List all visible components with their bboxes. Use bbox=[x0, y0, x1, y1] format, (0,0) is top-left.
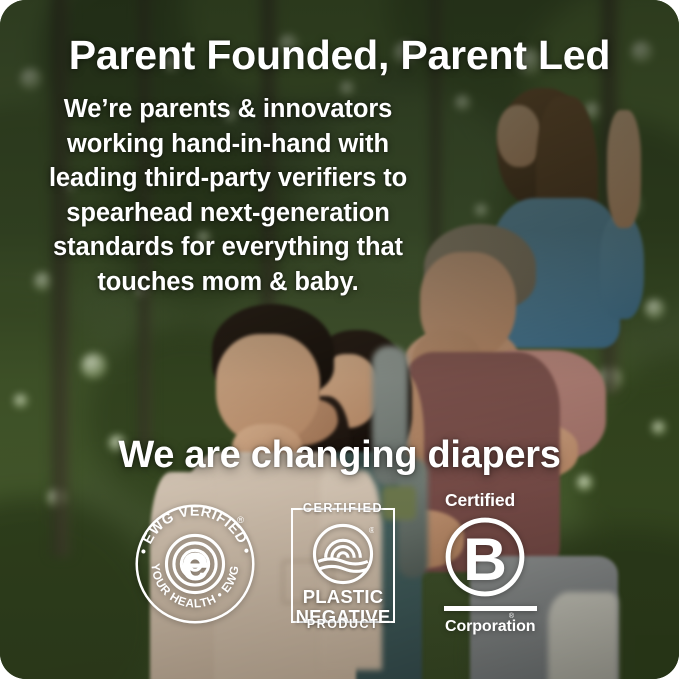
page-title: Parent Founded, Parent Led bbox=[0, 33, 679, 79]
plastic-negative-logo: ® bbox=[312, 523, 374, 585]
certified-b-corporation-badge: Certified B ® Corporation bbox=[443, 492, 545, 638]
bcorp-divider bbox=[444, 606, 537, 611]
lifestyle-ad-card: Parent Founded, Parent Led We’re parents… bbox=[0, 0, 679, 679]
bcorp-letter: B bbox=[463, 524, 507, 592]
ewg-verified-badge: • EWG VERIFIED • FOR YOUR HEALTH • EWG.O… bbox=[133, 502, 257, 626]
bcorp-top-label: Certified bbox=[443, 492, 545, 510]
certification-badges: • EWG VERIFIED • FOR YOUR HEALTH • EWG.O… bbox=[0, 492, 679, 644]
svg-text:e: e bbox=[181, 534, 209, 591]
plastic-negative-registered-mark: ® bbox=[369, 526, 374, 535]
plastic-negative-line1: PLASTIC bbox=[290, 587, 396, 607]
bcorp-b-mark: B ® bbox=[444, 516, 526, 598]
bcorp-bottom-label: Corporation bbox=[443, 618, 545, 636]
ewg-registered-mark: ® bbox=[237, 515, 244, 525]
plastic-negative-top-label: CERTIFIED bbox=[298, 501, 388, 515]
tagline: We are changing diapers bbox=[0, 434, 679, 477]
plastic-negative-bottom-label: PRODUCT bbox=[301, 617, 385, 631]
plastic-negative-badge: CERTIFIED ® PLASTIC NEGATIVE bbox=[290, 501, 396, 631]
ewg-e-glyph: e bbox=[174, 534, 210, 591]
bcorp-registered-mark: ® bbox=[509, 613, 514, 620]
content-layer: Parent Founded, Parent Led We’re parents… bbox=[0, 0, 679, 679]
body-copy: We’re parents & innovators working hand-… bbox=[28, 92, 428, 299]
